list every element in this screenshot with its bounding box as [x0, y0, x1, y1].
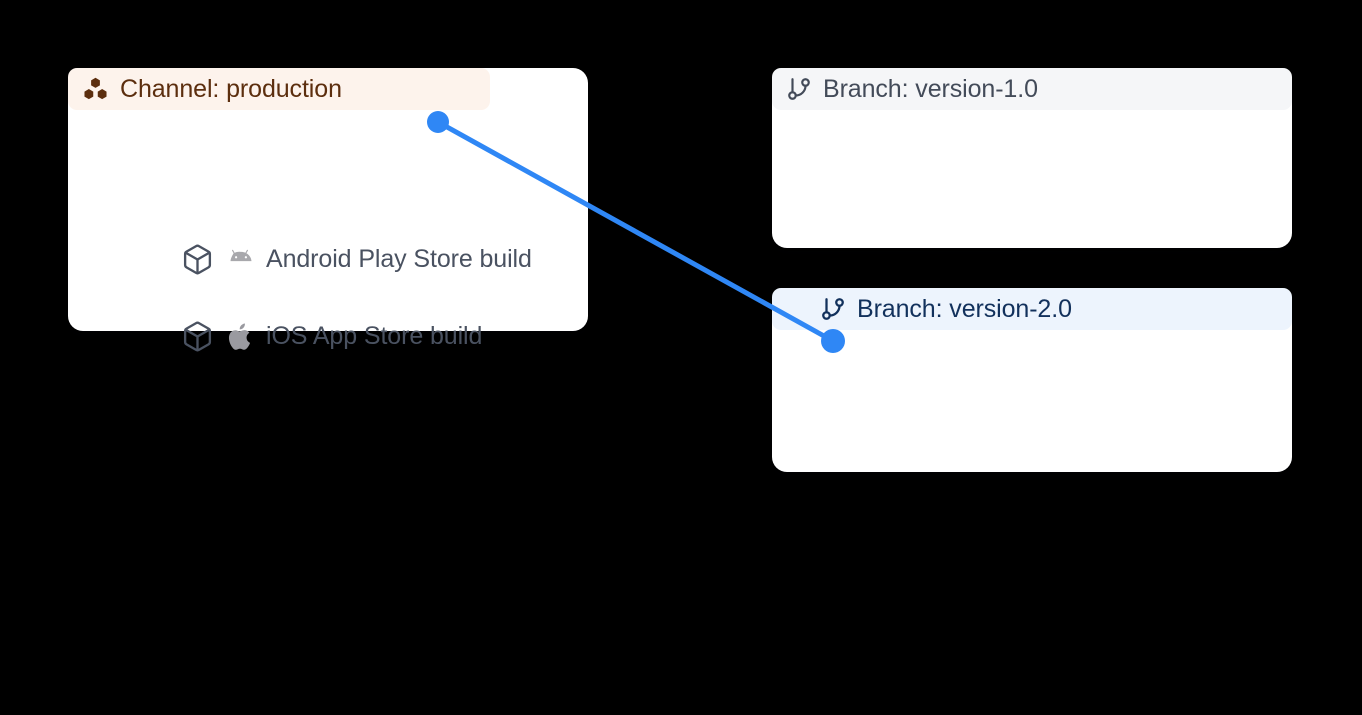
box-icon	[176, 320, 218, 353]
ios-build-row[interactable]: iOS App Store build	[176, 320, 482, 353]
android-build-label: Android Play Store build	[266, 245, 532, 274]
git-branch-icon	[786, 76, 812, 102]
channel-header-pill[interactable]: Channel: production	[68, 68, 490, 110]
graph-canvas: Channel: production Android Play Store b…	[0, 0, 1362, 544]
branch-2-header-label: Branch: version-2.0	[857, 295, 1072, 324]
branch-1-card[interactable]: Branch: version-1.0 Update “Fixes typo”	[772, 68, 1292, 248]
boxes-icon	[82, 76, 109, 103]
git-branch-icon	[820, 296, 846, 322]
ios-build-label: iOS App Store build	[266, 322, 482, 351]
android-icon	[224, 249, 258, 271]
channel-header-label: Channel: production	[120, 75, 342, 104]
apple-icon	[224, 322, 258, 352]
channel-card[interactable]: Channel: production Android Play Store b…	[68, 68, 588, 331]
box-icon	[176, 243, 218, 276]
branch-2-card[interactable]: Branch: version-2.0 Update “Fixes naviga…	[772, 288, 1292, 472]
android-build-row[interactable]: Android Play Store build	[176, 243, 532, 276]
branch-2-header-pill[interactable]: Branch: version-2.0	[772, 288, 1292, 330]
branch-1-header-pill[interactable]: Branch: version-1.0	[772, 68, 1292, 110]
branch-1-header-label: Branch: version-1.0	[823, 75, 1038, 104]
